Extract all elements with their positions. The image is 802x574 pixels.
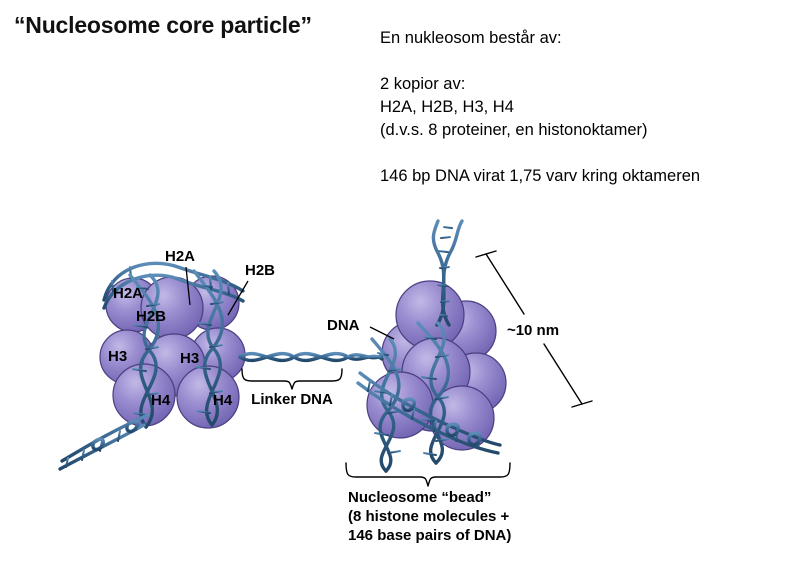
note-line-5: 146 bp DNA virat 1,75 varv kring oktamer… [380, 165, 780, 188]
label-h2b-right: H2B [245, 262, 275, 279]
label-linker-dna: Linker DNA [251, 391, 333, 408]
dna-label-group: DNA [327, 317, 394, 339]
right-nucleosome [348, 221, 506, 471]
label-h3-mid: H3 [180, 350, 199, 367]
label-dna: DNA [327, 317, 360, 334]
note-spacer-2 [380, 142, 780, 165]
note-line-4: (d.v.s. 8 proteiner, en histonoktamer) [380, 119, 780, 142]
label-h4-left: H4 [151, 392, 171, 409]
label-h2a-left: H2A [113, 285, 143, 302]
label-h4-right: H4 [213, 392, 233, 409]
page-title: “Nucleosome core particle” [14, 12, 312, 39]
note-spacer-1 [380, 50, 780, 73]
dim-tick-bottom [572, 401, 592, 407]
bead-caption-group: Nucleosome “bead” (8 histone molecules +… [346, 463, 511, 544]
left-nucleosome [60, 260, 245, 469]
caption-line-1: Nucleosome “bead” [348, 489, 491, 506]
caption-line-2: (8 histone molecules + [348, 508, 510, 525]
dim-line-bottom [544, 344, 582, 404]
notes-text-block: En nukleosom består av: 2 kopior av: H2A… [380, 27, 780, 188]
dna-entry-right [348, 355, 382, 359]
caption-line-3: 146 base pairs of DNA) [348, 527, 511, 544]
linker-brace [242, 369, 342, 389]
nucleosome-diagram: H2A H2A H2B H2B H3 H3 H4 H4 Linker DNA [0, 205, 802, 574]
note-line-2: 2 kopior av: [380, 73, 780, 96]
linker-dna-strand [240, 351, 348, 363]
linker-dna-annotation: Linker DNA [242, 369, 342, 408]
note-line-3: H2A, H2B, H3, H4 [380, 96, 780, 119]
note-line-1: En nukleosom består av: [380, 27, 780, 50]
label-h2a-top: H2A [165, 248, 195, 265]
label-scale: ~10 nm [507, 322, 559, 339]
dim-line-top [486, 254, 524, 314]
label-h2b-left: H2B [136, 308, 166, 325]
bead-brace [346, 463, 510, 486]
label-h3-left: H3 [108, 348, 127, 365]
